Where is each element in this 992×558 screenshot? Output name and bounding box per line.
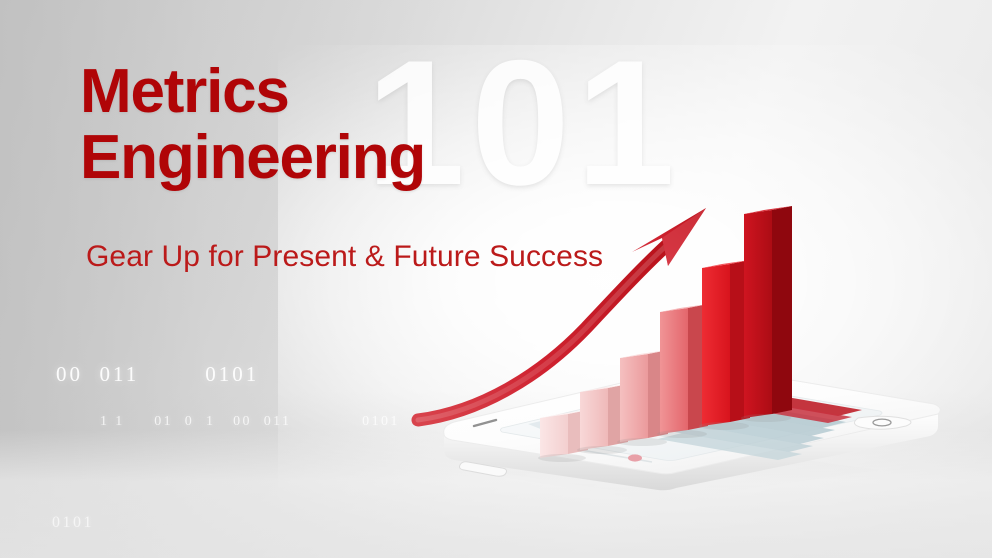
binary-decoration-row-3: 0101 bbox=[52, 514, 94, 532]
bar-5 bbox=[702, 260, 750, 426]
title-line-1: Metrics bbox=[80, 62, 640, 122]
bar-4 bbox=[660, 304, 708, 434]
binary-decoration-row-1: 00 011 0101 bbox=[56, 362, 259, 387]
page-title: Metrics Engineering bbox=[80, 62, 640, 187]
binary-decoration-row-2: 1 1 01 0 1 00 011 0101 bbox=[100, 414, 400, 430]
title-line-2: Engineering bbox=[80, 128, 640, 188]
bar-6 bbox=[744, 206, 792, 418]
hero-illustration bbox=[410, 200, 992, 558]
home-button[interactable] bbox=[854, 416, 911, 429]
presentation-slide: 101 Metrics Engineering Gear Up for Pres… bbox=[0, 0, 992, 558]
